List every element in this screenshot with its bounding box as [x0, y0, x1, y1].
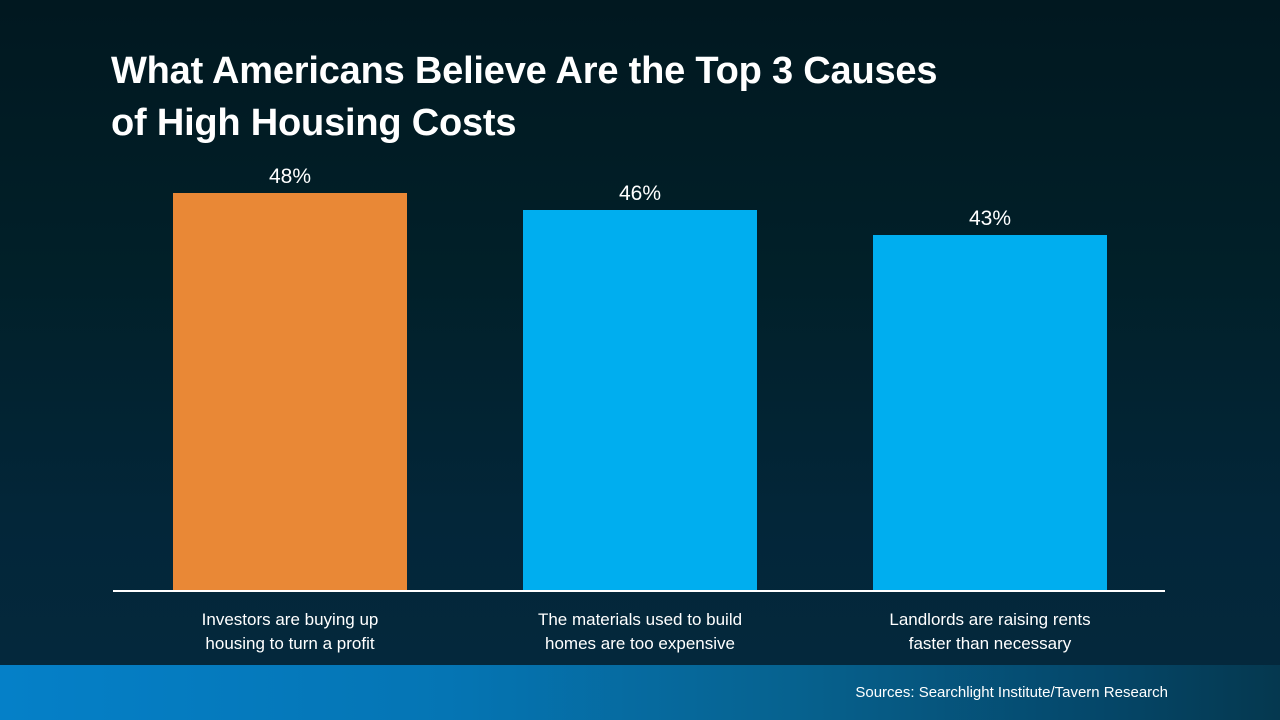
footer-bar: Sources: Searchlight Institute/Tavern Re… — [0, 665, 1280, 720]
category-label-0: Investors are buying up housing to turn … — [120, 608, 460, 656]
slide-canvas: What Americans Believe Are the Top 3 Cau… — [0, 0, 1280, 720]
bar-value-label-1: 46% — [465, 182, 815, 206]
bar-1[interactable] — [523, 210, 757, 591]
bar-value-label-2: 43% — [815, 207, 1165, 231]
bar-group-2: 43% Landlords are raising rents faster t… — [815, 0, 1165, 660]
category-label-2: Landlords are raising rents faster than … — [820, 608, 1160, 656]
baseline-axis — [113, 590, 1165, 592]
source-credit: Sources: Searchlight Institute/Tavern Re… — [855, 683, 1168, 703]
bar-group-0: 48% Investors are buying up housing to t… — [115, 0, 465, 660]
bar-chart: 48% Investors are buying up housing to t… — [0, 0, 1280, 660]
bar-value-label-0: 48% — [115, 165, 465, 189]
category-label-1: The materials used to build homes are to… — [470, 608, 810, 656]
bar-0[interactable] — [173, 193, 407, 591]
bar-2[interactable] — [873, 235, 1107, 591]
bar-group-1: 46% The materials used to build homes ar… — [465, 0, 815, 660]
